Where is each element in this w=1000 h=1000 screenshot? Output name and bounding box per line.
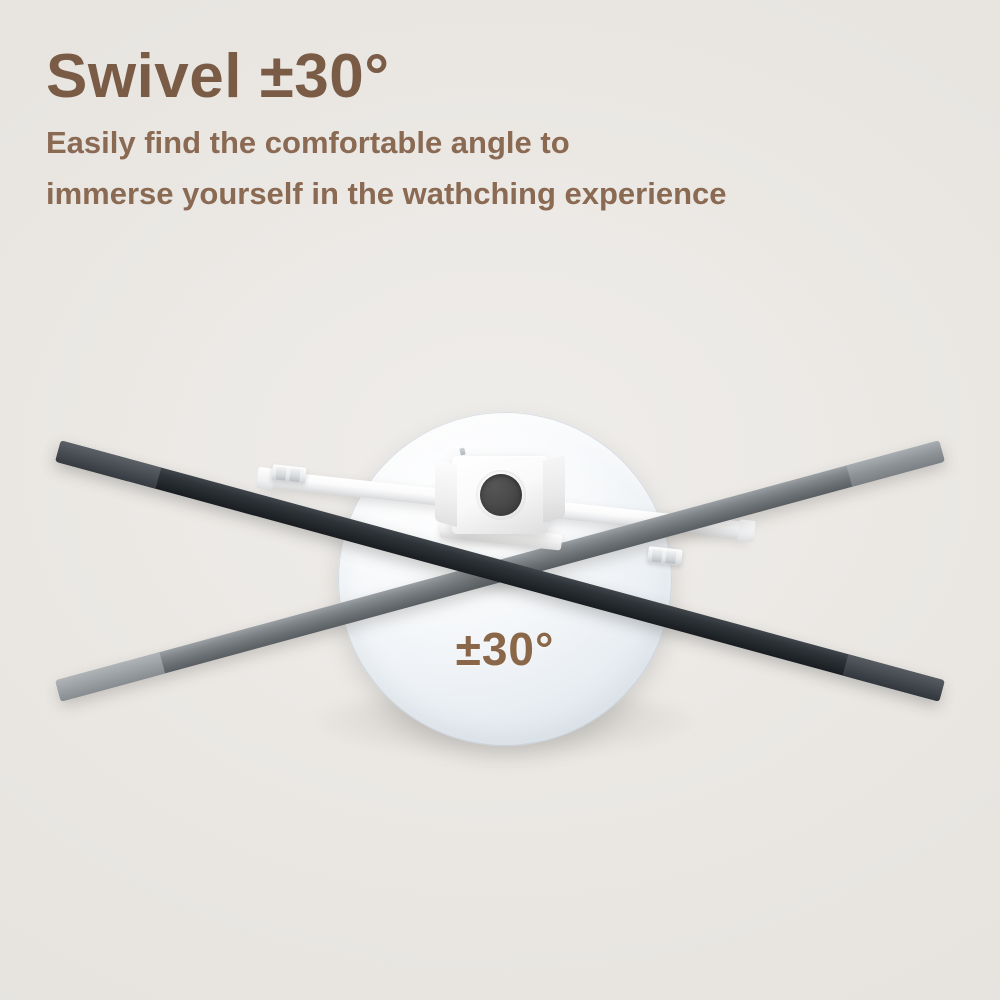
pivot-hub-icon xyxy=(480,474,522,516)
swivel-housing xyxy=(452,456,548,534)
housing-wing-left xyxy=(435,459,457,527)
product-feature-poster: Swivel ±30° Easily find the comfortable … xyxy=(0,0,1000,1000)
subtitle-line-2: immerse yourself in the wathching experi… xyxy=(46,178,946,209)
housing-wing-right xyxy=(543,455,565,523)
rail-end-cap xyxy=(737,519,755,542)
angle-label: ±30° xyxy=(338,622,672,676)
page-title: Swivel ±30° xyxy=(46,44,946,109)
subtitle-line-1: Easily find the comfortable angle to xyxy=(46,127,946,158)
copy-block: Swivel ±30° Easily find the comfortable … xyxy=(46,44,946,209)
product-illustration: ±30° xyxy=(0,360,1000,830)
pivot-ring xyxy=(476,470,526,520)
